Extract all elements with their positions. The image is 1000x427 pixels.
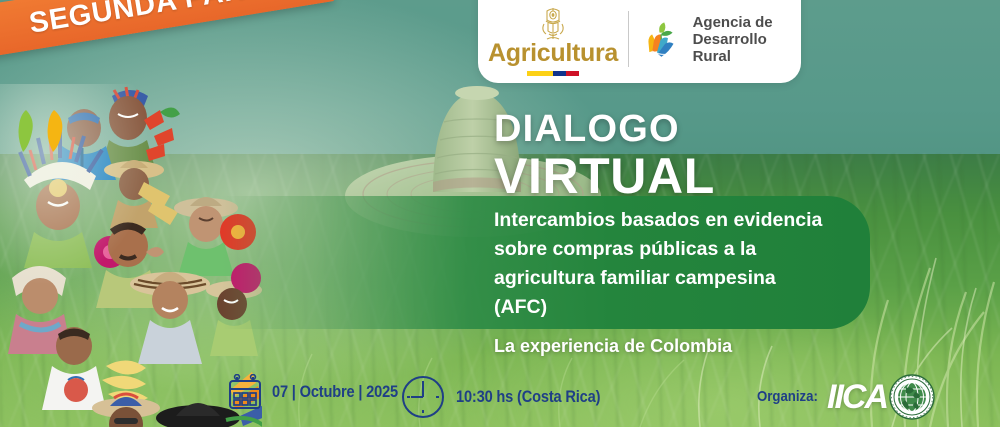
title-line-1: DIALOGO bbox=[494, 108, 680, 151]
iica-logo: IICA bbox=[827, 374, 935, 420]
organizer-label: Organiza: bbox=[757, 388, 818, 405]
agricultura-logo: Agricultura bbox=[478, 0, 628, 76]
panel-body-text: Intercambios basados en evidencia sobre … bbox=[494, 206, 824, 321]
event-date-label: 07 | Octubre | 2025 bbox=[272, 382, 398, 402]
adr-line-2: Desarrollo Rural bbox=[693, 31, 801, 65]
clock-icon bbox=[400, 374, 446, 420]
event-time-group: 10:30 hs (Costa Rica) bbox=[400, 374, 624, 420]
adr-line-1: Agencia de bbox=[693, 14, 801, 31]
subtitle-experience: La experiencia de Colombia bbox=[494, 336, 732, 357]
iica-wordmark: IICA bbox=[827, 378, 887, 417]
colombia-coat-of-arms-icon bbox=[538, 6, 568, 40]
event-date-group: 07 | Octubre | 2025 bbox=[228, 374, 419, 410]
calendar-icon bbox=[228, 374, 262, 410]
promotional-banner: SEGUNDA PARTE Ag bbox=[0, 0, 1000, 427]
event-time-label: 10:30 hs (Costa Rica) bbox=[456, 387, 600, 407]
agricultura-wordmark: Agricultura bbox=[488, 41, 618, 66]
adr-logo: Agencia de Desarrollo Rural bbox=[629, 0, 801, 65]
adr-wordmark: Agencia de Desarrollo Rural bbox=[693, 14, 801, 65]
leaf-accent-icon bbox=[14, 108, 72, 154]
iica-globe-icon bbox=[889, 374, 935, 420]
colombia-flag-bar bbox=[527, 71, 579, 76]
logo-header-card: Agricultura Agencia de Desarrollo Rural bbox=[478, 0, 801, 83]
adr-sprout-fan-icon bbox=[641, 16, 686, 64]
